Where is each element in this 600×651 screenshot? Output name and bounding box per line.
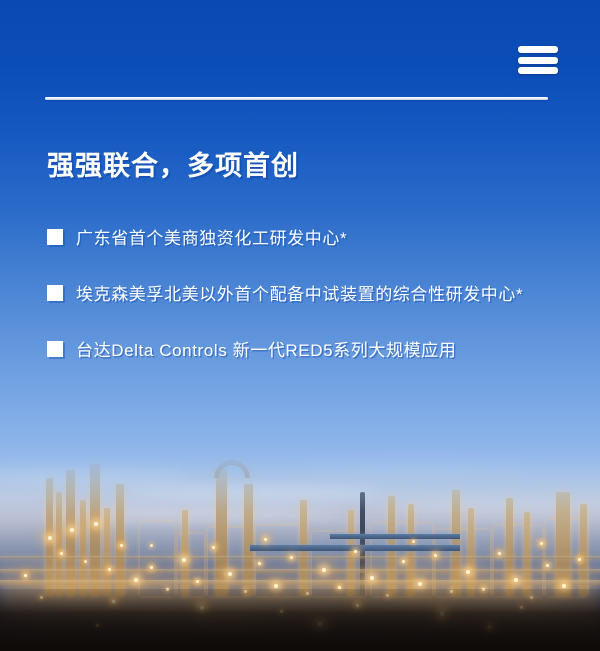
list-item: 埃克森美孚北美以外首个配备中试装置的综合性研发中心* [47,280,547,310]
hamburger-menu-icon[interactable] [518,46,558,74]
menu-bar-2 [518,57,558,64]
list-item-label: 广东省首个美商独资化工研发中心* [76,224,347,254]
menu-bar-3 [518,67,558,74]
refinery-photo [0,440,600,651]
menu-bar-1 [518,46,558,53]
list-item: 广东省首个美商独资化工研发中心* [47,224,547,254]
square-bullet-icon [47,285,63,301]
page-title: 强强联合，多项首创 [47,150,600,182]
list-item-label: 埃克森美孚北美以外首个配备中试装置的综合性研发中心* [76,280,523,310]
square-bullet-icon [47,229,63,245]
header-divider [45,97,548,100]
list-item: 台达Delta Controls 新一代RED5系列大规模应用 [47,336,547,366]
foreground-ground [0,589,600,651]
site-header [0,0,600,110]
content-area: 强强联合，多项首创 广东省首个美商独资化工研发中心* 埃克森美孚北美以外首个配备… [0,110,600,366]
bullet-list: 广东省首个美商独资化工研发中心* 埃克森美孚北美以外首个配备中试装置的综合性研发… [0,224,600,365]
square-bullet-icon [47,341,63,357]
list-item-label: 台达Delta Controls 新一代RED5系列大规模应用 [76,336,456,366]
page-root: 强强联合，多项首创 广东省首个美商独资化工研发中心* 埃克森美孚北美以外首个配备… [0,0,600,651]
